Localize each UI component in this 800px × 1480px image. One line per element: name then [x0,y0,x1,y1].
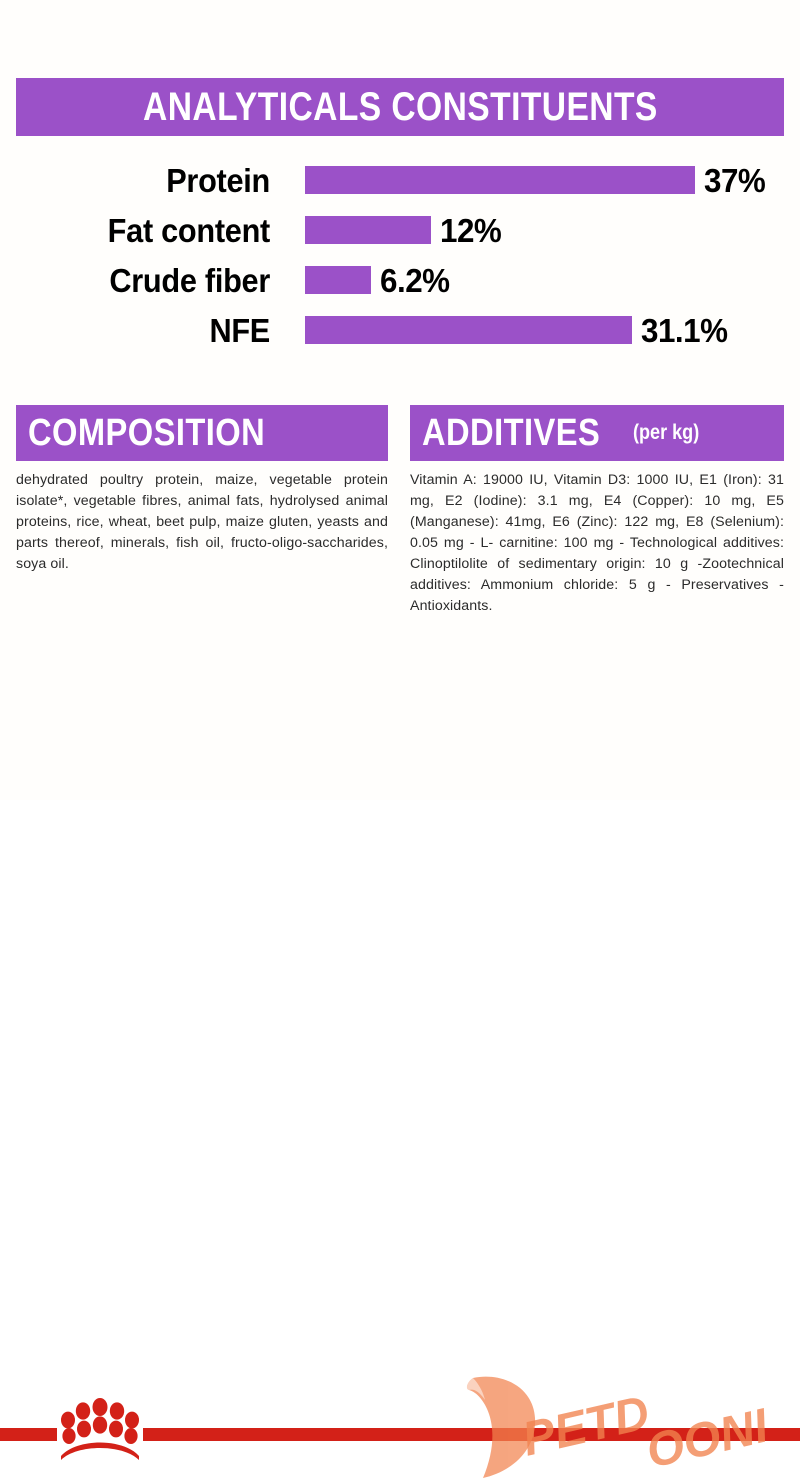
analyticals-bar-chart: Protein 37% Fat content 12% Crude fiber … [0,156,800,368]
additives-header-subtitle: (per kg) [633,421,699,445]
svg-text:PETD: PETD [518,1386,655,1466]
table-row: Fat content 12% [0,206,800,254]
product-info-panel: ANALYTICALS CONSTITUENTS Protein 37% Fat… [0,0,800,800]
bar-fill-fat-content [305,216,431,244]
additives-body-text: Vitamin A: 19000 IU, Vitamin D3: 1000 IU… [410,470,784,617]
analyticals-header-title: ANALYTICALS CONSTITUENTS [143,87,658,127]
analyticals-header-banner: ANALYTICALS CONSTITUENTS [16,78,784,136]
footer-divider-left [0,1428,57,1441]
bar-track-nfe: 31.1% [305,306,732,354]
bar-label-nfe: NFE [19,314,270,347]
bar-track-protein: 37% [305,156,769,204]
composition-section: COMPOSITION dehydrated poultry protein, … [16,405,388,575]
table-row: Crude fiber 6.2% [0,256,800,304]
bar-fill-protein [305,166,695,194]
bar-value-crude-fiber: 6.2% [380,264,450,297]
bar-fill-crude-fiber [305,266,371,294]
bar-value-protein: 37% [704,164,765,197]
composition-body-text: dehydrated poultry protein, maize, veget… [16,470,388,575]
footer: PETD OONI [0,680,800,800]
royal-canin-crown-logo [53,1398,147,1460]
additives-header-banner: ADDITIVES (per kg) [410,405,784,461]
petdooni-watermark-logo: PETD OONI [455,1368,800,1480]
footer-divider-right [143,1428,800,1441]
bar-track-fat-content: 12% [305,206,505,254]
bar-value-fat-content: 12% [440,214,501,247]
bar-fill-nfe [305,316,632,344]
table-row: Protein 37% [0,156,800,204]
bar-track-crude-fiber: 6.2% [305,256,453,304]
composition-header-title: COMPOSITION [28,414,265,452]
bar-label-protein: Protein [19,164,270,197]
bar-label-crude-fiber: Crude fiber [19,264,270,297]
composition-header-banner: COMPOSITION [16,405,388,461]
bar-label-fat-content: Fat content [19,214,270,247]
table-row: NFE 31.1% [0,306,800,354]
bar-value-nfe: 31.1% [641,314,728,347]
additives-section: ADDITIVES (per kg) Vitamin A: 19000 IU, … [410,405,784,617]
additives-header-title: ADDITIVES [422,414,600,452]
